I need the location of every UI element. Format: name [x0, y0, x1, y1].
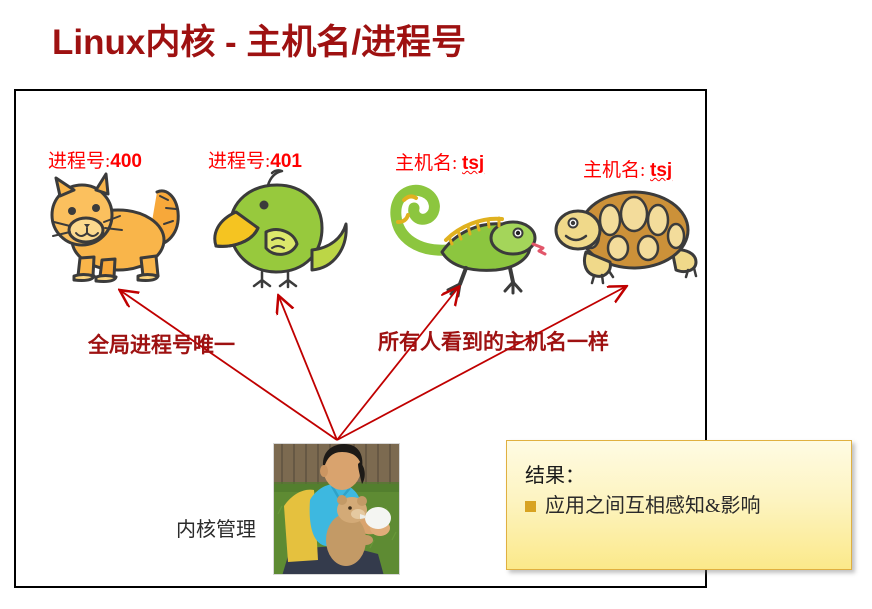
- label-hostname-lizard-prefix: 主机名:: [395, 153, 462, 174]
- result-bullet-text: 应用之间互相感知&影响: [545, 493, 761, 519]
- label-process-401: 进程号:401: [208, 146, 302, 173]
- label-hostname-lizard-value: tsj: [462, 153, 484, 174]
- label-hostname-turtle-value: tsj: [650, 160, 672, 181]
- label-hostname-turtle-prefix: 主机名:: [583, 160, 650, 181]
- label-process-400-value: 400: [110, 151, 142, 172]
- result-heading: 结果：: [525, 463, 851, 489]
- kernel-caption: 内核管理: [176, 513, 256, 542]
- label-hostname-lizard: 主机名: tsj: [395, 148, 484, 175]
- label-process-400: 进程号:400: [48, 146, 142, 173]
- annotation-right: 所有人看到的主机名一样: [378, 326, 609, 356]
- label-process-400-prefix: 进程号:: [48, 151, 110, 172]
- label-process-401-prefix: 进程号:: [208, 151, 270, 172]
- annotation-left: 全局进程号唯一: [88, 329, 235, 359]
- kernel-photo: [273, 443, 400, 575]
- square-bullet-icon: [525, 501, 536, 512]
- page-title: Linux内核 - 主机名/进程号: [52, 14, 466, 65]
- label-process-401-value: 401: [270, 151, 302, 172]
- result-bullet-item: 应用之间互相感知&影响: [525, 493, 851, 519]
- result-callout: 结果： 应用之间互相感知&影响: [506, 440, 852, 570]
- kernel-photo-image: [274, 444, 400, 575]
- label-hostname-turtle: 主机名: tsj: [583, 155, 672, 182]
